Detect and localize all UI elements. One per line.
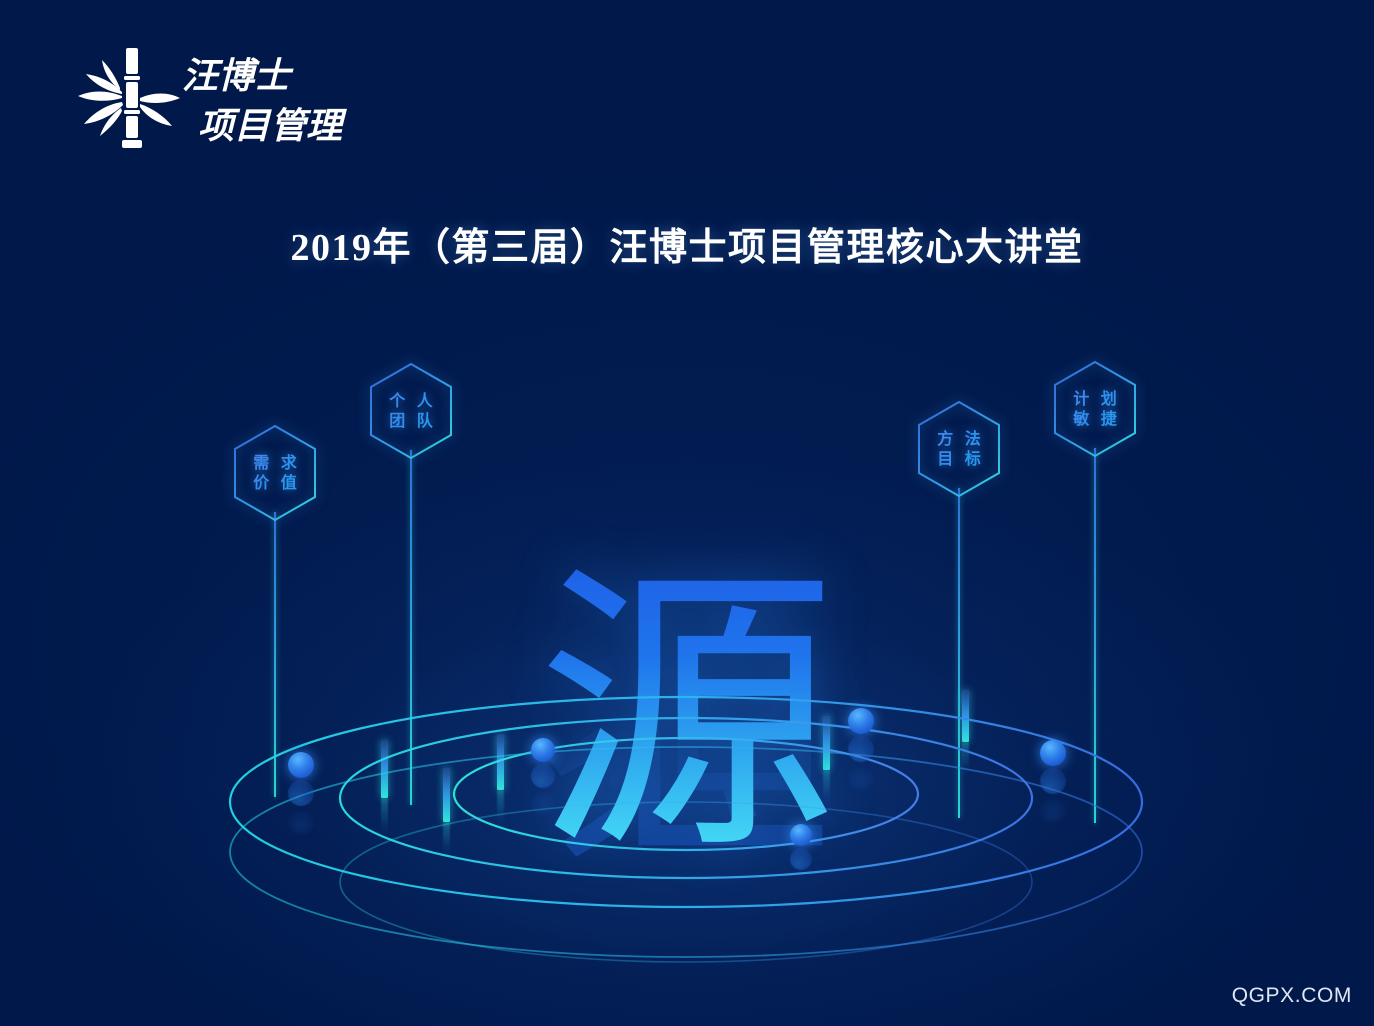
glow-orb	[848, 708, 874, 734]
center-glyph: 源	[0, 565, 1374, 865]
glow-orb	[1040, 740, 1066, 766]
marker-label-line1: 需 求	[250, 455, 300, 472]
slide-canvas: 汪博士 项目管理 2019年（第三届）汪博士项目管理核心大讲堂 源 源	[0, 0, 1374, 1026]
marker-method-goal[interactable]: 方 法 目 标	[916, 400, 1002, 498]
hero-illustration: 源 源	[0, 0, 1374, 1026]
glow-orb-reflection	[848, 766, 874, 790]
marker-label-line2: 价 值	[250, 475, 300, 492]
glow-orb	[531, 738, 555, 762]
glow-orb-reflection	[288, 810, 314, 834]
marker-label-line1: 方 法	[934, 431, 984, 448]
glow-orb-reflection	[848, 736, 874, 762]
marker-label-line1: 计 划	[1070, 391, 1120, 408]
marker-label-line1: 个 人	[386, 393, 436, 410]
marker-label-plan-agile: 计 划 敏 捷	[1052, 360, 1138, 458]
marker-label-line2: 团 队	[386, 413, 436, 430]
watermark: QGPX.COM	[1232, 984, 1352, 1008]
marker-label-method-goal: 方 法 目 标	[916, 400, 1002, 498]
marker-plan-agile[interactable]: 计 划 敏 捷	[1052, 360, 1138, 458]
glow-orb-reflection	[790, 848, 812, 870]
glow-orb-reflection	[531, 764, 555, 788]
glow-orb-reflection	[531, 792, 555, 814]
marker-label-line2: 目 标	[934, 451, 984, 468]
glow-orb-reflection	[288, 780, 314, 806]
marker-label-line2: 敏 捷	[1070, 411, 1120, 428]
marker-demand-value[interactable]: 需 求 价 值	[232, 424, 318, 522]
marker-label-individual-team: 个 人 团 队	[368, 362, 454, 460]
glow-orb-reflection	[1040, 768, 1066, 794]
glow-orb	[790, 824, 812, 846]
marker-individual-team[interactable]: 个 人 团 队	[368, 362, 454, 460]
glow-orb	[288, 752, 314, 778]
glow-orb-reflection	[1040, 798, 1066, 822]
marker-label-demand-value: 需 求 价 值	[232, 424, 318, 522]
